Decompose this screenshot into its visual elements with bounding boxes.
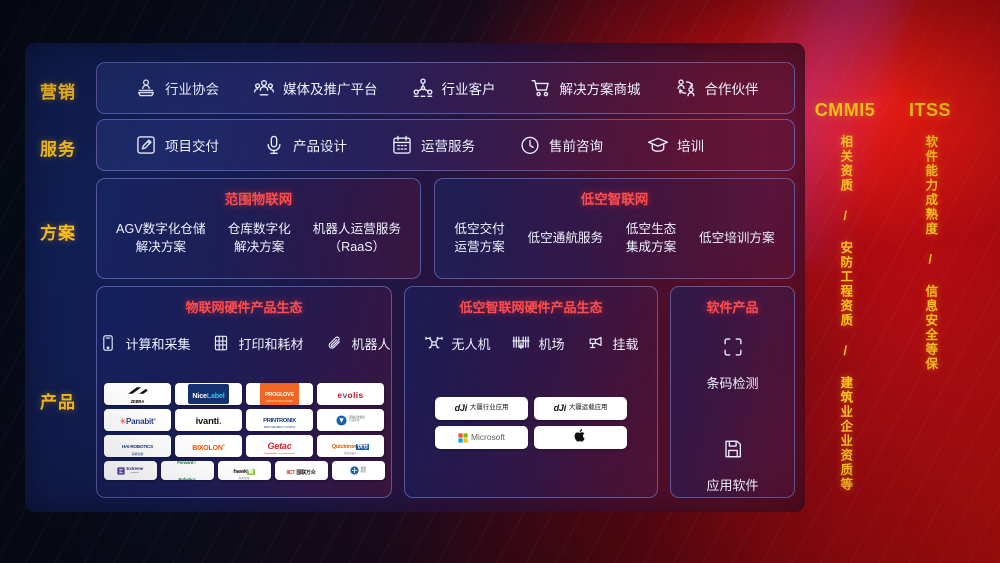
solution-item-list: AGV数字化仓储 解决方案仓库数字化 解决方案机器人运营服务 （RaaS） xyxy=(97,208,420,270)
certification-itss: ITSS 软件能力成熟度 / 信息安全等保 xyxy=(890,100,970,372)
product-category-label: 挂载 xyxy=(613,334,639,353)
software-item-list: 条码检测应用软件 xyxy=(671,336,794,494)
certification-heading: CMMI5 xyxy=(805,100,885,121)
marketing-item[interactable]: 合作伙伴 xyxy=(675,77,759,99)
pen-square-icon xyxy=(135,134,157,156)
graduation-cap-icon xyxy=(647,134,669,156)
brand-logo-tile[interactable]: ✳Panabit® xyxy=(104,409,171,431)
product-box-title: 软件产品 xyxy=(671,297,794,316)
shopping-cart-icon xyxy=(530,77,552,99)
brand-logo-tile[interactable]: Extremenetworks xyxy=(104,461,157,480)
logo-row: ZEBRANiceLabelPROGLOVEMAKE WORK EASIERev… xyxy=(103,383,385,405)
payload-mount-icon xyxy=(585,332,607,354)
service-item[interactable]: 产品设计 xyxy=(263,134,347,156)
brand-logo-tile[interactable]: PROGLOVEMAKE WORK EASIER xyxy=(246,383,313,405)
printer-icon xyxy=(210,332,232,354)
product-box-lowaltitude-hardware: 低空智联网硬件产品生态 无人机机场挂载 dJi大疆行业应用dJi大疆运载应用Mi… xyxy=(404,286,658,498)
drone-icon xyxy=(423,332,445,354)
service-item-label: 项目交付 xyxy=(165,135,219,155)
presenter-icon xyxy=(135,77,157,99)
solution-box-iot: 范围物联网 AGV数字化仓储 解决方案仓库数字化 解决方案机器人运营服务 （Ra… xyxy=(96,178,421,279)
product-category-label: 机器人 xyxy=(352,334,391,353)
software-product-label: 应用软件 xyxy=(671,475,794,494)
product-category-label: 无人机 xyxy=(451,334,490,353)
brand-logo-tile[interactable]: dJi大疆行业应用 xyxy=(435,397,528,420)
logo-row: ✳Panabit®ivanti.PRINTRONIXPRINT RELIABIL… xyxy=(103,409,385,431)
service-item-label: 培训 xyxy=(677,135,704,155)
brand-logo-tile[interactable]: HAI ROBOTICS海柔创新 xyxy=(104,435,171,457)
product-category-label: 机场 xyxy=(538,334,564,353)
marketing-item[interactable]: 媒体及推广平台 xyxy=(253,77,378,99)
software-product-item[interactable]: 应用软件 xyxy=(671,438,794,494)
service-item[interactable]: 运营服务 xyxy=(391,134,475,156)
software-product-item[interactable]: 条码检测 xyxy=(671,336,794,392)
handshake-partner-icon xyxy=(675,77,697,99)
solution-item[interactable]: 低空交付 运营方案 xyxy=(454,221,504,257)
service-item[interactable]: 售前咨询 xyxy=(519,134,603,156)
product-box-iot-hardware: 物联网硬件产品生态 计算和采集打印和耗材机器人 ZEBRANiceLabelPR… xyxy=(96,286,392,498)
floppy-save-icon xyxy=(722,438,744,460)
brand-logo-tile[interactable]: BIXOLON® xyxy=(175,435,242,457)
marketing-item-label: 行业协会 xyxy=(165,78,219,98)
brand-logo-tile[interactable]: Forward✗Robotics未来机器人 xyxy=(161,461,214,480)
product-category[interactable]: 挂载 xyxy=(585,332,639,354)
logo-grid-iot: ZEBRANiceLabelPROGLOVEMAKE WORK EASIERev… xyxy=(97,383,391,480)
barcode-scan-icon xyxy=(722,336,744,358)
software-product-label: 条码检测 xyxy=(671,373,794,392)
network-people-icon xyxy=(412,77,434,99)
clock-icon xyxy=(519,134,541,156)
certification-vertical-text: 软件能力成熟度 / 信息安全等保 xyxy=(923,135,937,372)
product-category-label: 计算和采集 xyxy=(125,334,190,353)
brand-logo-tile[interactable]: PRINTRONIXPRINT RELIABILITY COUNTS xyxy=(246,409,313,431)
service-item[interactable]: 项目交付 xyxy=(135,134,219,156)
brand-logo-tile[interactable]: NiceLabel xyxy=(175,383,242,405)
solution-item[interactable]: 机器人运营服务 （RaaS） xyxy=(313,221,401,257)
brand-logo-tile[interactable]: ivanti. xyxy=(175,409,242,431)
solution-item[interactable]: 低空培训方案 xyxy=(699,230,775,248)
marketing-item-label: 媒体及推广平台 xyxy=(283,78,378,98)
service-item-label: 运营服务 xyxy=(421,135,475,155)
brand-logo-tile[interactable]: hawk智海 柯 智 能 xyxy=(218,461,271,480)
solution-item[interactable]: 低空通航服务 xyxy=(528,230,604,248)
brand-logo-tile[interactable]: Microsoft xyxy=(435,426,528,449)
product-box-title: 低空智联网硬件产品生态 xyxy=(405,297,657,316)
product-category[interactable]: 机场 xyxy=(510,332,564,354)
brand-logo-tile[interactable]: GetacRugged Mobile Computing Solutions xyxy=(246,435,313,457)
logo-row: dJi大疆行业应用dJi大疆运载应用 xyxy=(405,397,657,420)
product-category[interactable]: 无人机 xyxy=(423,332,490,354)
marketing-item-label: 行业客户 xyxy=(442,78,496,98)
logo-row: HAI ROBOTICS海柔创新BIXOLON®GetacRugged Mobi… xyxy=(103,435,385,457)
airport-icon xyxy=(510,332,532,354)
certification-heading: ITSS xyxy=(890,100,970,121)
brand-logo-tile[interactable]: IICT 国联万众 xyxy=(275,461,328,480)
solution-item[interactable]: 低空生态 集成方案 xyxy=(626,221,676,257)
solution-item[interactable]: AGV数字化仓储 解决方案 xyxy=(116,221,206,257)
brand-logo-tile[interactable] xyxy=(534,426,627,449)
brand-logo-tile[interactable]: 智慧标识 xyxy=(332,461,385,480)
people-group-icon xyxy=(253,77,275,99)
logo-row: Microsoft xyxy=(405,426,657,449)
marketing-item[interactable]: 行业客户 xyxy=(412,77,496,99)
mobile-device-icon xyxy=(97,332,119,354)
solution-box-title: 低空智联网 xyxy=(435,188,794,208)
product-category-row: 计算和采集打印和耗材机器人 xyxy=(97,332,391,354)
marketing-item[interactable]: 解决方案商城 xyxy=(530,77,641,99)
solution-item[interactable]: 仓库数字化 解决方案 xyxy=(228,221,291,257)
product-category-label: 打印和耗材 xyxy=(238,334,303,353)
marketing-item-label: 解决方案商城 xyxy=(560,78,641,98)
brand-logo-tile[interactable]: Quicktron快仓智能 机器人 xyxy=(317,435,384,457)
product-box-title: 物联网硬件产品生态 xyxy=(97,297,391,316)
product-category[interactable]: 计算和采集 xyxy=(97,332,190,354)
product-category-row: 无人机机场挂载 xyxy=(405,332,657,354)
brand-logo-tile[interactable]: evolis xyxy=(317,383,384,405)
microphone-icon xyxy=(263,134,285,156)
row-label-marketing: 营销 xyxy=(40,78,96,103)
row-label-product: 产品 xyxy=(40,388,96,413)
marketing-bar: 行业协会媒体及推广平台行业客户解决方案商城合作伙伴 xyxy=(96,62,795,114)
service-item-label: 产品设计 xyxy=(293,135,347,155)
logo-grid-lowaltitude: dJi大疆行业应用dJi大疆运载应用Microsoft xyxy=(405,397,657,449)
marketing-item[interactable]: 行业协会 xyxy=(135,77,219,99)
product-category[interactable]: 机器人 xyxy=(324,332,391,354)
brand-logo-tile[interactable]: dJi大疆运载应用 xyxy=(534,397,627,420)
solution-box-title: 范围物联网 xyxy=(97,188,420,208)
service-item-label: 售前咨询 xyxy=(549,135,603,155)
paperclip-robot-icon xyxy=(324,332,346,354)
logo-row: ExtremenetworksForward✗Robotics未来机器人hawk… xyxy=(103,461,385,480)
certification-cmmi5: CMMI5 相关资质 / 安防工程资质 / 建筑业企业资质等 xyxy=(805,100,885,492)
marketing-item-label: 合作伙伴 xyxy=(705,78,759,98)
row-label-solution: 方案 xyxy=(40,219,96,244)
row-label-service: 服务 xyxy=(40,135,96,160)
service-item[interactable]: 培训 xyxy=(647,134,704,156)
service-bar: 项目交付产品设计运营服务售前咨询培训 xyxy=(96,119,795,171)
solution-item-list: 低空交付 运营方案低空通航服务低空生态 集成方案低空培训方案 xyxy=(435,208,794,270)
product-box-software: 软件产品 条码检测应用软件 xyxy=(670,286,795,498)
solution-box-lowaltitude: 低空智联网 低空交付 运营方案低空通航服务低空生态 集成方案低空培训方案 xyxy=(434,178,795,279)
product-category[interactable]: 打印和耗材 xyxy=(210,332,303,354)
certification-vertical-text: 相关资质 / 安防工程资质 / 建筑业企业资质等 xyxy=(838,135,852,492)
brand-logo-tile[interactable]: 国际标准组织认证企业 xyxy=(317,409,384,431)
calendar-icon xyxy=(391,134,413,156)
brand-logo-tile[interactable]: ZEBRA xyxy=(104,383,171,405)
